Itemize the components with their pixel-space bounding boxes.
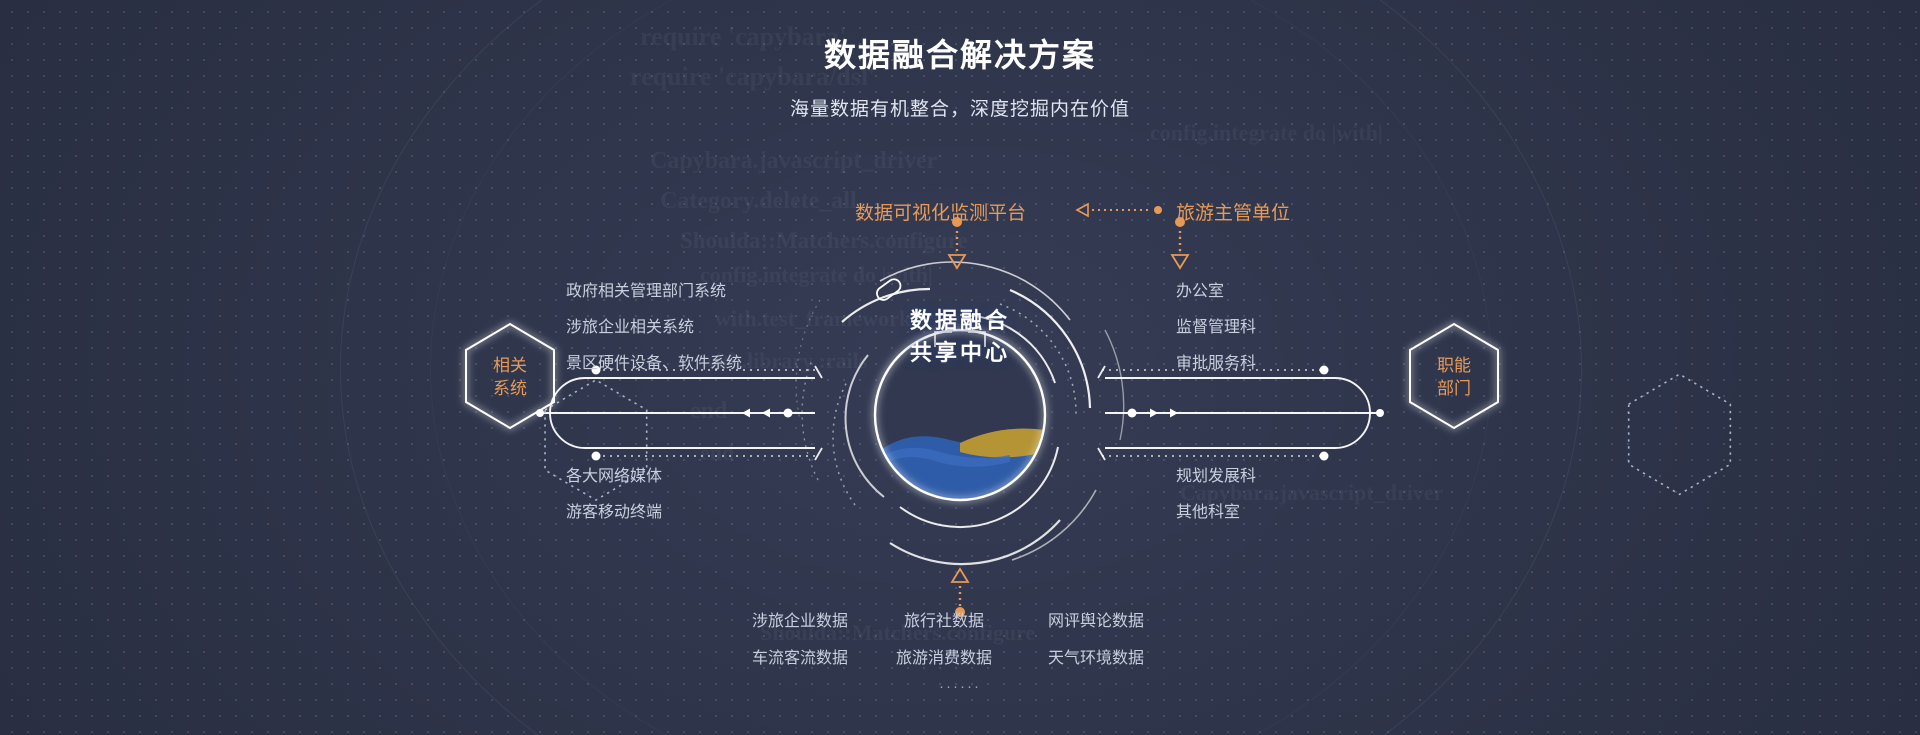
- left-item-3[interactable]: 各大网络媒体: [566, 462, 662, 486]
- center-label: 数据融合 共享中心: [869, 305, 1051, 369]
- page-subtitle: 海量数据有机整合，深度挖掘内在价值: [0, 94, 1920, 121]
- left-item-1[interactable]: 涉旅企业相关系统: [566, 313, 694, 337]
- center-label-line2: 共享中心: [869, 337, 1051, 369]
- label-data-visualization-platform[interactable]: 数据可视化监测平台: [855, 198, 1026, 225]
- right-hub-label-line2: 部门: [1394, 378, 1514, 401]
- bottom-item-4[interactable]: 旅游消费数据: [896, 644, 992, 668]
- left-connector-rails: [540, 366, 822, 460]
- bottom-item-5[interactable]: 天气环境数据: [1048, 644, 1144, 668]
- right-item-2[interactable]: 审批服务科: [1176, 349, 1256, 373]
- right-item-4[interactable]: 其他科室: [1176, 498, 1240, 522]
- bottom-item-0[interactable]: 涉旅企业数据: [752, 607, 848, 631]
- right-item-1[interactable]: 监督管理科: [1176, 313, 1256, 337]
- page-title: 数据融合解决方案: [0, 36, 1920, 74]
- left-hub-label[interactable]: 相关 系统: [450, 355, 570, 401]
- bottom-item-3[interactable]: 车流客流数据: [752, 644, 848, 668]
- left-hub-label-line2: 系统: [450, 378, 570, 401]
- left-item-4[interactable]: 游客移动终端: [566, 498, 662, 522]
- right-hub-outer-hex: [1629, 374, 1731, 494]
- ring-capsule-marker: [874, 277, 903, 303]
- center-label-line1: 数据融合: [869, 305, 1051, 337]
- label-tourism-authority[interactable]: 旅游主管单位: [1176, 198, 1290, 225]
- right-item-0[interactable]: 办公室: [1176, 277, 1224, 301]
- left-item-2[interactable]: 景区硬件设备、软件系统: [566, 349, 742, 373]
- right-connector-rails: [1098, 366, 1380, 460]
- left-hub-label-line1: 相关: [450, 355, 570, 378]
- right-hub-label-line1: 职能: [1394, 355, 1514, 378]
- bottom-ellipsis: ······: [0, 678, 1920, 695]
- right-item-3[interactable]: 规划发展科: [1176, 462, 1256, 486]
- right-hub-label[interactable]: 职能 部门: [1394, 355, 1514, 401]
- bottom-item-1[interactable]: 旅行社数据: [904, 607, 984, 631]
- bottom-item-2[interactable]: 网评舆论数据: [1048, 607, 1144, 631]
- header: 数据融合解决方案 海量数据有机整合，深度挖掘内在价值: [0, 36, 1920, 121]
- left-item-0[interactable]: 政府相关管理部门系统: [566, 277, 726, 301]
- top-horizontal-arrow: [1077, 204, 1162, 216]
- right-hub-hexagon[interactable]: [1410, 324, 1730, 494]
